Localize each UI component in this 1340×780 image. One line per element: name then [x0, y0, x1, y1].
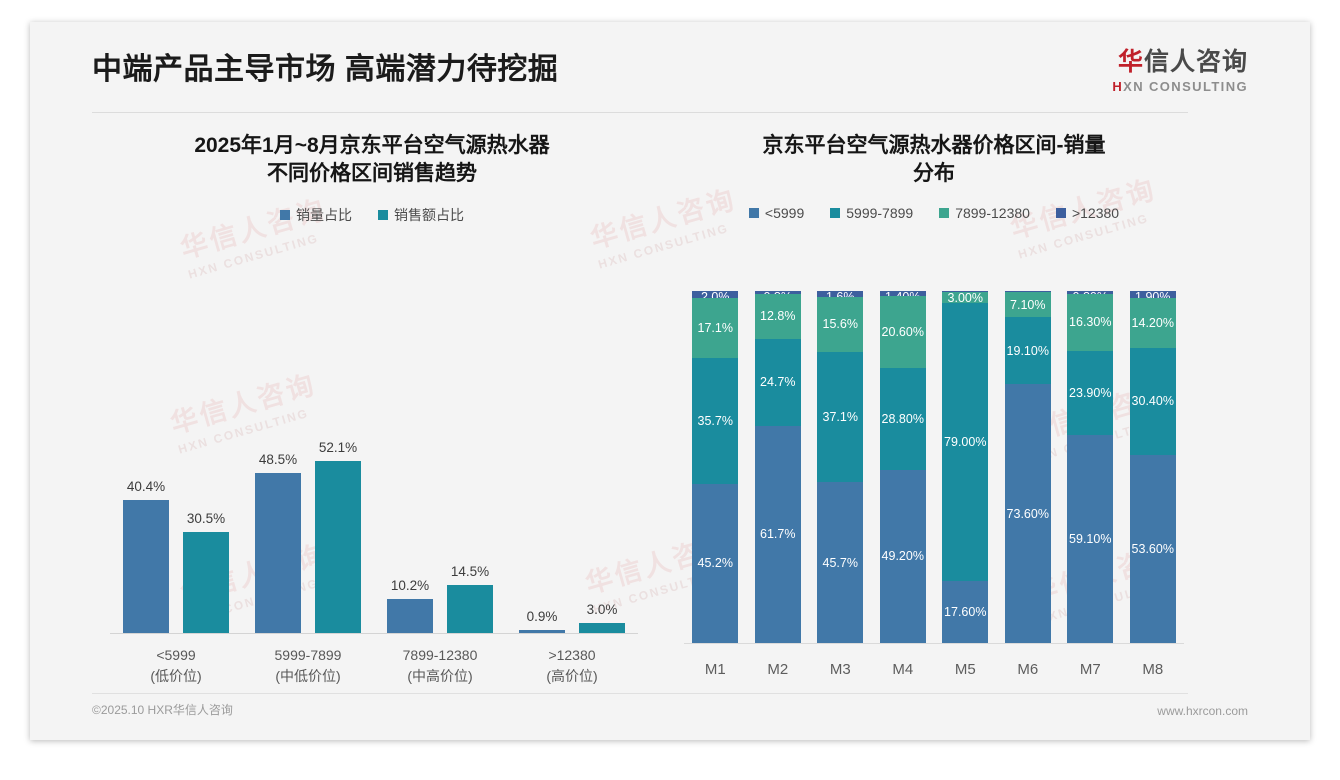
- stack-segment[interactable]: 24.7%: [755, 339, 801, 426]
- segment-value-label: 17.1%: [698, 321, 733, 335]
- stack-segment[interactable]: 49.20%: [880, 470, 926, 643]
- stack-segment[interactable]: 17.1%: [692, 298, 738, 358]
- right-chart-title: 京东平台空气源热水器价格区间-销量 分布: [680, 132, 1188, 187]
- segment-value-label: 19.10%: [1007, 344, 1049, 358]
- bar-group: 40.4% 30.5%: [110, 303, 242, 633]
- footer-copyright: ©2025.10 HXR华信人咨询: [92, 701, 233, 718]
- stack-segment[interactable]: 3.00%: [942, 292, 988, 303]
- bar-amount[interactable]: 30.5%: [183, 532, 229, 633]
- segment-value-label: 35.7%: [698, 414, 733, 428]
- x-tick-label: M4: [872, 661, 935, 678]
- stack-segment[interactable]: 30.40%: [1130, 348, 1176, 455]
- right-chart-plot-area: 2.0%17.1%35.7%45.2%0.8%12.8%24.7%61.7%1.…: [680, 280, 1188, 692]
- bar-volume[interactable]: 0.9%: [519, 630, 565, 633]
- stack-segment[interactable]: 28.80%: [880, 368, 926, 469]
- bar-value-label: 10.2%: [391, 578, 429, 593]
- stacked-bar[interactable]: 2.0%17.1%35.7%45.2%: [692, 291, 738, 643]
- segment-value-label: 79.00%: [944, 435, 986, 449]
- left-chart-x-axis: [110, 633, 638, 634]
- x-tick-label: 7899-12380 (中高价位): [374, 645, 506, 686]
- stack-segment[interactable]: 37.1%: [817, 352, 863, 483]
- x-tick-label: M2: [747, 661, 810, 678]
- bar-amount[interactable]: 52.1%: [315, 461, 361, 633]
- stacked-bar[interactable]: 1.90%14.20%30.40%53.60%: [1130, 291, 1176, 643]
- stacked-bar[interactable]: 0.40%3.00%79.00%17.60%: [942, 291, 988, 643]
- stack-column: 0.30%7.10%19.10%73.60%: [997, 291, 1060, 643]
- right-chart-legend: <5999 5999-7899 7899-12380 >12380: [680, 205, 1188, 221]
- stack-segment[interactable]: 19.10%: [1005, 317, 1051, 384]
- segment-value-label: 73.60%: [1007, 507, 1049, 521]
- legend-label: 7899-12380: [955, 205, 1030, 221]
- bar-volume[interactable]: 10.2%: [387, 599, 433, 633]
- left-chart-bar-groups: 40.4% 30.5% 48.5% 52.1%: [110, 303, 638, 633]
- bar-value-label: 30.5%: [187, 511, 225, 526]
- right-chart-x-labels: M1M2M3M4M5M6M7M8: [684, 661, 1184, 678]
- left-chart-x-labels: <5999 (低价位) 5999-7899 (中低价位) 7899-12380 …: [110, 645, 638, 686]
- legend-swatch: [280, 210, 290, 220]
- logo-chinese-text: 华信人咨询: [1112, 50, 1248, 75]
- segment-value-label: 45.7%: [823, 556, 858, 570]
- stack-segment[interactable]: 61.7%: [755, 426, 801, 643]
- stacked-bar[interactable]: 0.8%12.8%24.7%61.7%: [755, 291, 801, 643]
- stack-segment[interactable]: 2.0%: [692, 291, 738, 298]
- stack-column: 0.8%12.8%24.7%61.7%: [747, 291, 810, 643]
- segment-value-label: 53.60%: [1132, 542, 1174, 556]
- legend-swatch: [1056, 208, 1066, 218]
- bar-amount[interactable]: 14.5%: [447, 585, 493, 633]
- brand-logo: 华信人咨询 HXN CONSULTING: [1112, 50, 1248, 94]
- segment-value-label: 17.60%: [944, 605, 986, 619]
- page-title: 中端产品主导市场 高端潜力待挖掘: [92, 44, 558, 88]
- stack-segment[interactable]: 7.10%: [1005, 292, 1051, 317]
- legend-item-sales-amount-share[interactable]: 销售额占比: [378, 205, 464, 225]
- x-tick-label: >12380 (高价位): [506, 645, 638, 686]
- stack-segment[interactable]: 20.60%: [880, 296, 926, 369]
- legend-item-over-12380[interactable]: >12380: [1056, 205, 1119, 221]
- segment-value-label: 14.20%: [1132, 316, 1174, 330]
- bar-value-label: 52.1%: [319, 440, 357, 455]
- legend-item-under-5999[interactable]: <5999: [749, 205, 804, 221]
- stacked-bar[interactable]: 1.6%15.6%37.1%45.7%: [817, 291, 863, 643]
- legend-label: >12380: [1072, 205, 1119, 221]
- x-tick-label: M8: [1122, 661, 1185, 678]
- bar-amount[interactable]: 3.0%: [579, 623, 625, 633]
- bar-value-label: 40.4%: [127, 479, 165, 494]
- legend-item-5999-7899[interactable]: 5999-7899: [830, 205, 913, 221]
- stack-segment[interactable]: 14.20%: [1130, 298, 1176, 348]
- segment-value-label: 28.80%: [882, 412, 924, 426]
- segment-value-label: 45.2%: [698, 556, 733, 570]
- segment-value-label: 24.7%: [760, 375, 795, 389]
- stack-segment[interactable]: 53.60%: [1130, 455, 1176, 644]
- segment-value-label: 12.8%: [760, 309, 795, 323]
- x-tick-label: 5999-7899 (中低价位): [242, 645, 374, 686]
- stacked-bar[interactable]: 0.30%7.10%19.10%73.60%: [1005, 291, 1051, 643]
- stack-segment[interactable]: 12.8%: [755, 294, 801, 339]
- stack-column: 1.40%20.60%28.80%49.20%: [872, 291, 935, 643]
- left-chart-legend: 销量占比 销售额占比: [92, 205, 652, 225]
- stack-segment[interactable]: 59.10%: [1067, 435, 1113, 643]
- x-tick-label: M7: [1059, 661, 1122, 678]
- bar-volume[interactable]: 40.4%: [123, 500, 169, 633]
- x-tick-label: M6: [997, 661, 1060, 678]
- stack-segment[interactable]: 35.7%: [692, 358, 738, 484]
- legend-item-7899-12380[interactable]: 7899-12380: [939, 205, 1030, 221]
- legend-label: <5999: [765, 205, 804, 221]
- footer-website: www.hxrcon.com: [1157, 704, 1248, 718]
- legend-swatch: [830, 208, 840, 218]
- left-chart-plot-area: 40.4% 30.5% 48.5% 52.1%: [92, 292, 652, 692]
- stacked-bar[interactable]: 0.80%16.30%23.90%59.10%: [1067, 291, 1113, 643]
- right-chart-stacks: 2.0%17.1%35.7%45.2%0.8%12.8%24.7%61.7%1.…: [684, 291, 1184, 643]
- bar-group: 48.5% 52.1%: [242, 303, 374, 633]
- logo-english-text: HXN CONSULTING: [1112, 79, 1248, 94]
- footer-divider: [92, 693, 1188, 694]
- bar-volume[interactable]: 48.5%: [255, 473, 301, 633]
- segment-value-label: 49.20%: [882, 549, 924, 563]
- stack-column: 2.0%17.1%35.7%45.2%: [684, 291, 747, 643]
- segment-value-label: 15.6%: [823, 317, 858, 331]
- bar-group: 10.2% 14.5%: [374, 303, 506, 633]
- stack-segment[interactable]: 1.90%: [1130, 291, 1176, 298]
- left-chart-panel: 2025年1月~8月京东平台空气源热水器 不同价格区间销售趋势 销量占比 销售额…: [92, 132, 652, 692]
- segment-value-label: 61.7%: [760, 527, 795, 541]
- x-tick-label: M5: [934, 661, 997, 678]
- legend-swatch: [939, 208, 949, 218]
- segment-value-label: 16.30%: [1069, 315, 1111, 329]
- right-chart-x-axis: [684, 643, 1184, 644]
- stack-column: 0.80%16.30%23.90%59.10%: [1059, 291, 1122, 643]
- stack-segment[interactable]: 45.2%: [692, 484, 738, 643]
- stack-segment[interactable]: 79.00%: [942, 303, 988, 581]
- segment-value-label: 20.60%: [882, 325, 924, 339]
- stack-column: 1.6%15.6%37.1%45.7%: [809, 291, 872, 643]
- stack-segment[interactable]: 45.7%: [817, 482, 863, 643]
- legend-label: 5999-7899: [846, 205, 913, 221]
- stack-segment[interactable]: 23.90%: [1067, 351, 1113, 435]
- bar-value-label: 48.5%: [259, 452, 297, 467]
- stacked-bar[interactable]: 1.40%20.60%28.80%49.20%: [880, 291, 926, 643]
- bar-value-label: 14.5%: [451, 564, 489, 579]
- segment-value-label: 7.10%: [1010, 298, 1045, 312]
- segment-value-label: 23.90%: [1069, 386, 1111, 400]
- slide-canvas: 华信人咨询 HXN CONSULTING 华信人咨询 HXN CONSULTIN…: [30, 22, 1310, 740]
- legend-label: 销量占比: [296, 205, 352, 225]
- left-chart-title: 2025年1月~8月京东平台空气源热水器 不同价格区间销售趋势: [92, 132, 652, 187]
- slide-header: 中端产品主导市场 高端潜力待挖掘 华信人咨询 HXN CONSULTING: [30, 22, 1310, 118]
- stack-segment[interactable]: 17.60%: [942, 581, 988, 643]
- segment-value-label: 37.1%: [823, 410, 858, 424]
- header-divider: [92, 112, 1188, 113]
- right-chart-panel: 京东平台空气源热水器价格区间-销量 分布 <5999 5999-7899 789…: [680, 132, 1188, 692]
- legend-swatch: [378, 210, 388, 220]
- bar-value-label: 0.9%: [527, 609, 558, 624]
- stack-segment[interactable]: 15.6%: [817, 297, 863, 352]
- legend-label: 销售额占比: [394, 205, 464, 225]
- legend-swatch: [749, 208, 759, 218]
- stack-segment[interactable]: 73.60%: [1005, 384, 1051, 643]
- stack-column: 1.90%14.20%30.40%53.60%: [1122, 291, 1185, 643]
- legend-item-sales-volume-share[interactable]: 销量占比: [280, 205, 352, 225]
- x-tick-label: M1: [684, 661, 747, 678]
- stack-column: 0.40%3.00%79.00%17.60%: [934, 291, 997, 643]
- x-tick-label: <5999 (低价位): [110, 645, 242, 686]
- bar-value-label: 3.0%: [587, 602, 618, 617]
- x-tick-label: M3: [809, 661, 872, 678]
- stack-segment[interactable]: 16.30%: [1067, 294, 1113, 351]
- segment-value-label: 30.40%: [1132, 394, 1174, 408]
- segment-value-label: 59.10%: [1069, 532, 1111, 546]
- bar-group: 0.9% 3.0%: [506, 303, 638, 633]
